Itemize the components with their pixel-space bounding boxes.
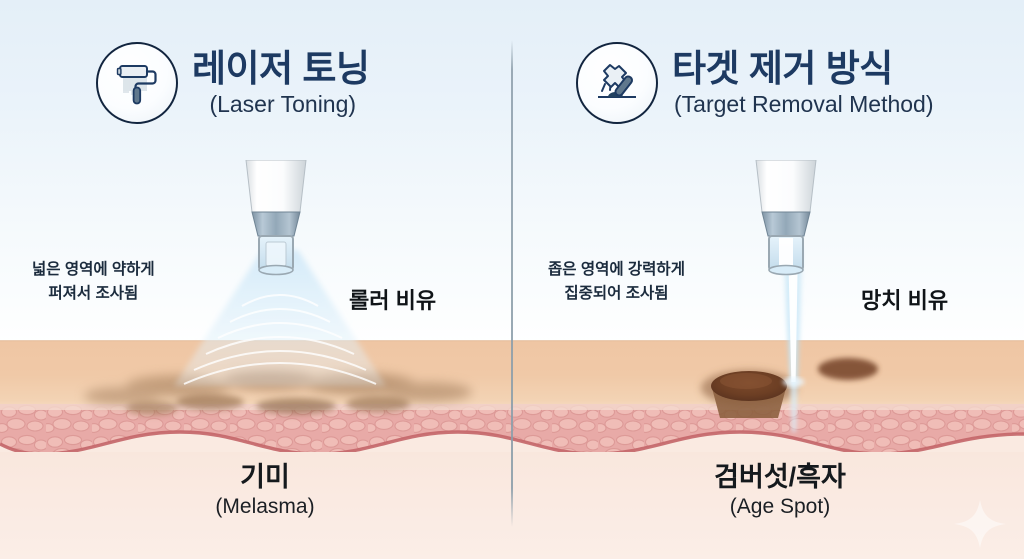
lesion-name-en-right: (Age Spot): [652, 495, 908, 519]
description-right-line2: 집중되어 조사됨: [548, 282, 685, 306]
description-left-line2: 퍼져서 조사됨: [32, 282, 155, 306]
lesion-name-ko-right: 검버섯/흑자: [652, 462, 908, 492]
lesion-name-ko-left: 기미: [150, 462, 380, 492]
description-left-line1: 넓은 영역에 약하게: [32, 258, 155, 282]
laser-handpiece-right: [738, 160, 834, 293]
paint-roller-badge: [96, 42, 178, 124]
panel-subtitle-left: (Laser Toning): [192, 93, 369, 116]
laser-handpiece-left: [228, 160, 324, 293]
paint-roller-icon: [109, 55, 165, 111]
panel-title-right: 타겟 제거 방식: [672, 50, 934, 87]
description-right: 좁은 영역에 강력하게 집중되어 조사됨: [548, 258, 685, 306]
sparkle-icon: [952, 498, 1008, 550]
panel-title-left: 레이저 토닝: [192, 50, 369, 87]
panel-header-left: 레이저 토닝 (Laser Toning): [96, 42, 369, 124]
panel-header-right: 타겟 제거 방식 (Target Removal Method): [576, 42, 934, 124]
description-left: 넓은 영역에 약하게 퍼져서 조사됨: [32, 258, 155, 306]
analogy-label-left: 롤러 비유: [349, 283, 436, 315]
lesion-label-left: 기미 (Melasma): [150, 462, 380, 519]
lesion-label-right: 검버섯/흑자 (Age Spot): [652, 462, 908, 519]
lesion-name-en-left: (Melasma): [150, 495, 380, 519]
panel-divider: [511, 40, 513, 527]
analogy-label-right: 망치 비유: [861, 283, 948, 315]
infographic-canvas: 레이저 토닝 (Laser Toning) 타겟 제거 방식 (Target R…: [0, 0, 1024, 559]
hammer-badge: [576, 42, 658, 124]
hammer-icon: [589, 55, 645, 111]
description-right-line1: 좁은 영역에 강력하게: [548, 258, 685, 282]
panel-subtitle-right: (Target Removal Method): [672, 93, 934, 116]
